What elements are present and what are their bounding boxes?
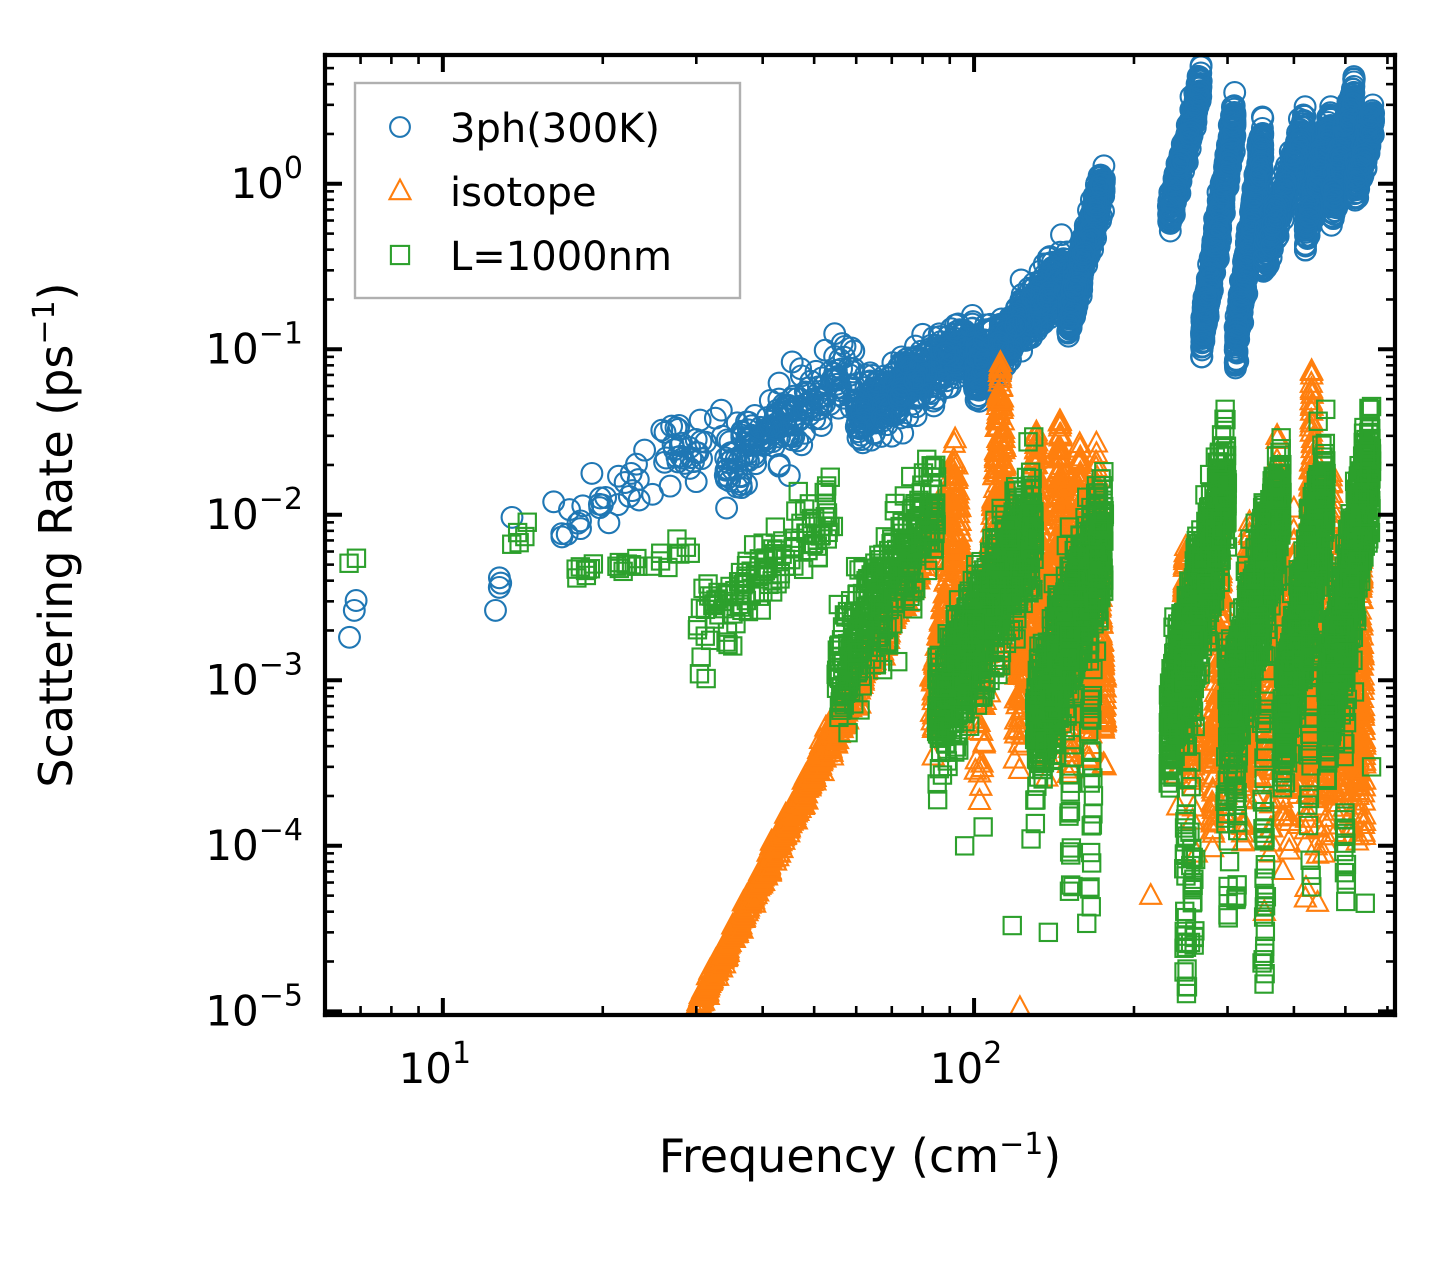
scatter-plot-figure: 10−510−410−310−210−1100101102Frequency (… <box>0 0 1455 1265</box>
legend-label: isotope <box>450 170 597 216</box>
legend: 3ph(300K)isotopeL=1000nm <box>355 83 740 298</box>
legend-label: 3ph(300K) <box>450 106 660 152</box>
plot-canvas: 10−510−410−310−210−1100101102Frequency (… <box>0 0 1455 1265</box>
y-axis-title: Scattering Rate (ps−1) <box>27 282 83 787</box>
legend-label: L=1000nm <box>450 234 672 280</box>
